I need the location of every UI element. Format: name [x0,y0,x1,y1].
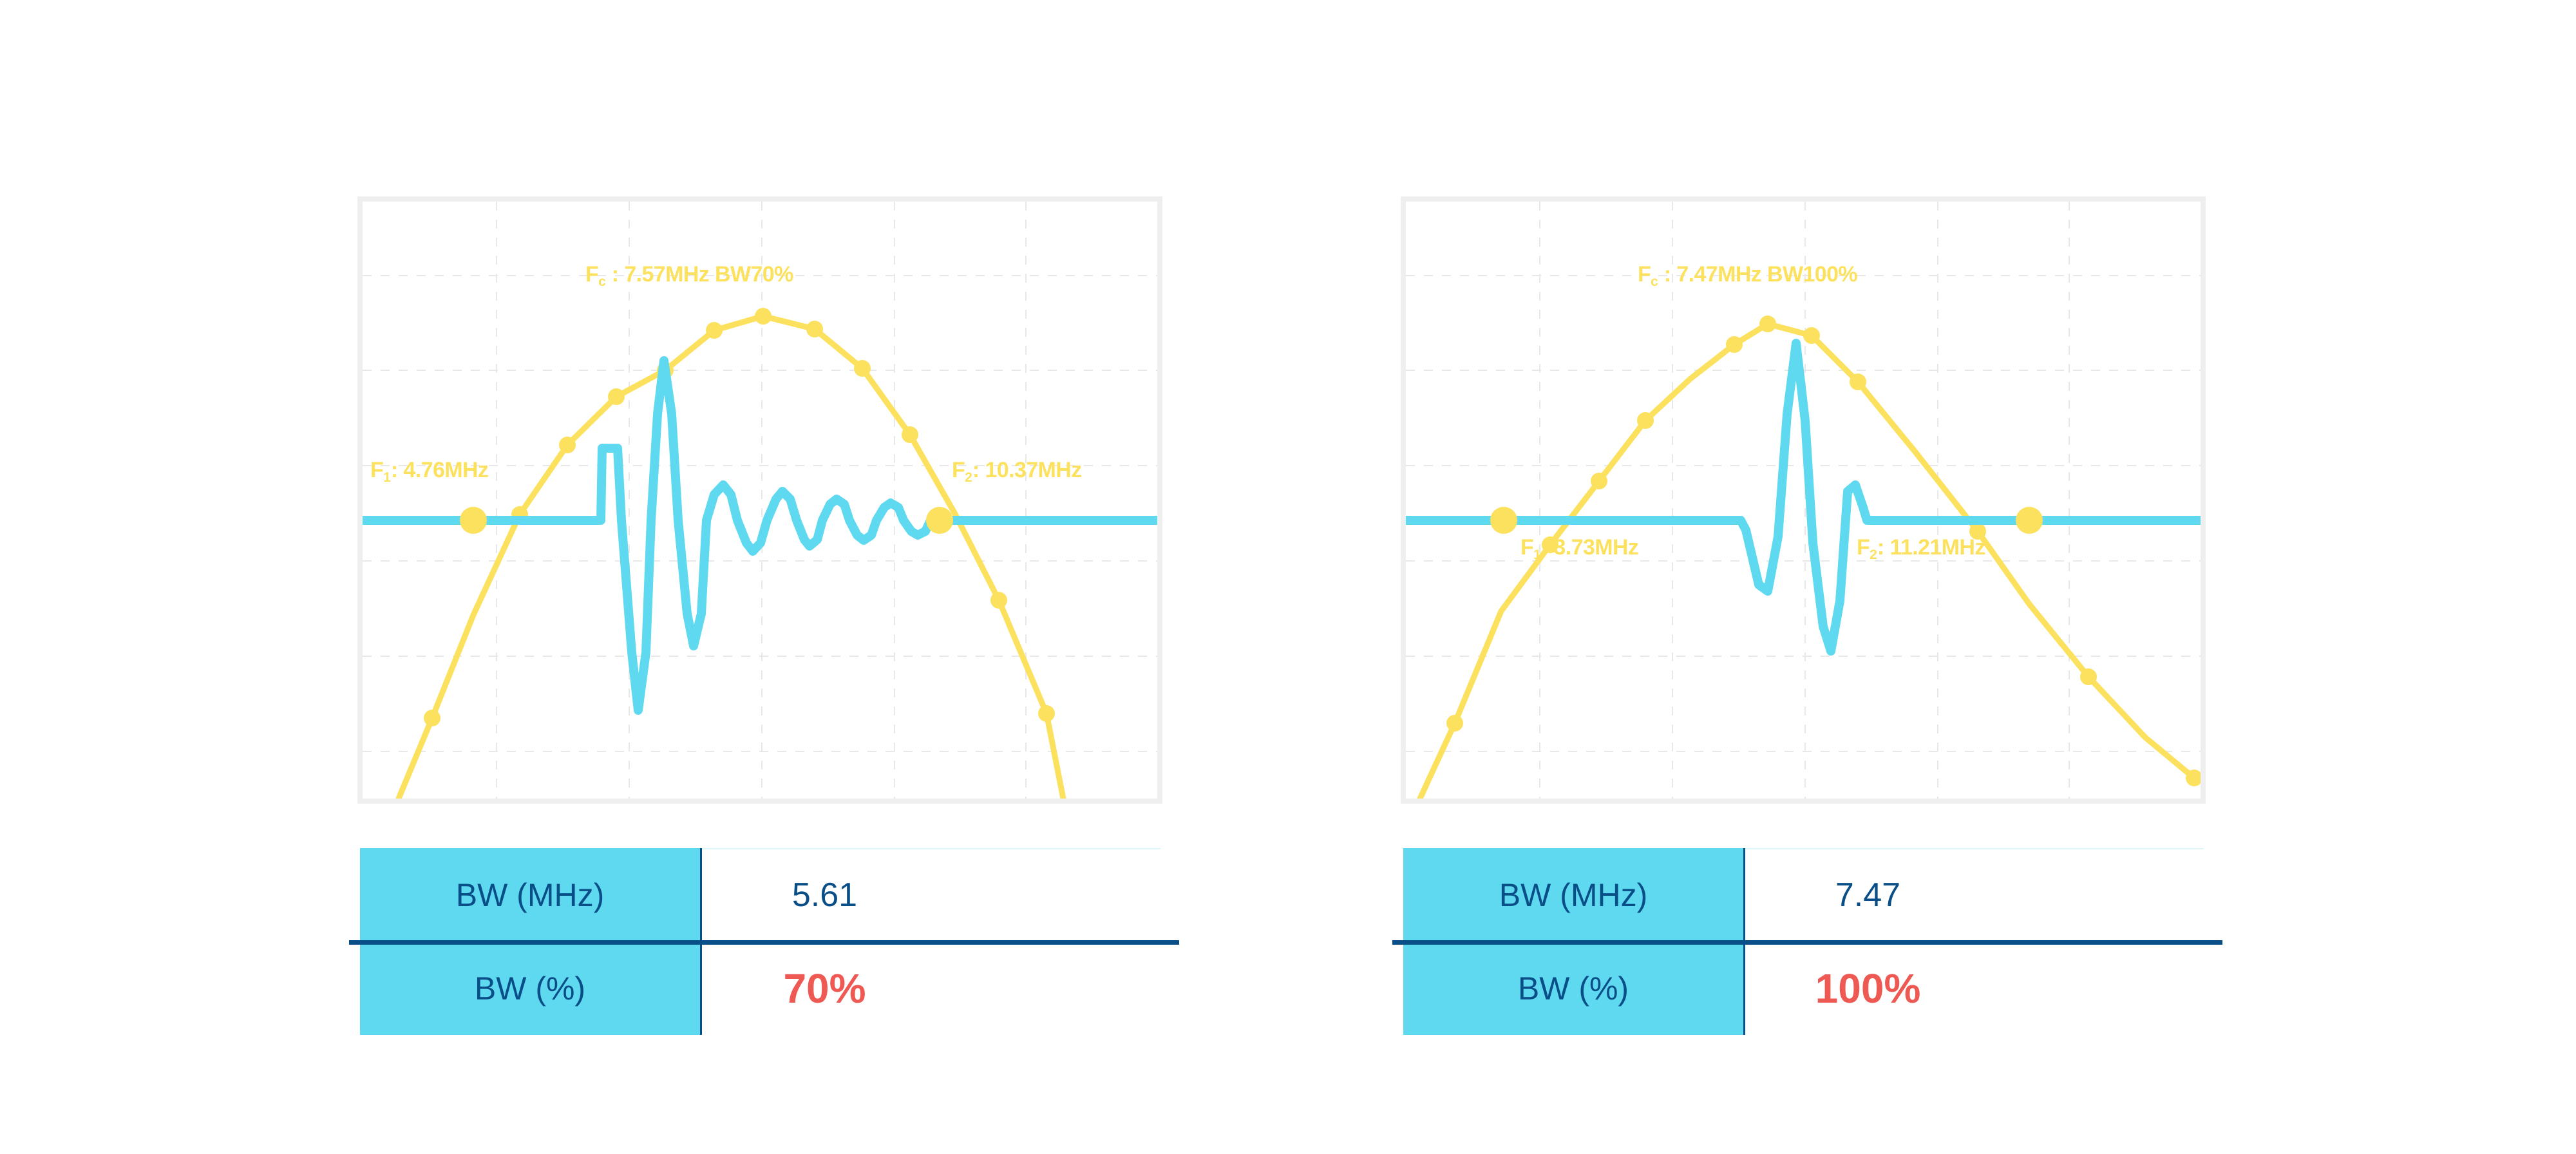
curves-right [1406,202,2201,799]
annotation-f1-text-right: : 3.73MHz [1541,535,1638,560]
bw-pct-label-left: BW (%) [360,941,700,1035]
chart-box-right: Fc : 7.47MHz BW100% F1: 3.73MHz F2: 11.2… [1401,196,2206,804]
plot-area-left: Fc : 7.57MHz BW70% F1: 4.76MHz F2: 10.37… [363,202,1157,799]
curves-left [363,202,1157,799]
annotation-f2-sub-right: 2 [1870,547,1877,562]
annotation-f2-right: F2: 11.21MHz [1857,536,1985,558]
bw-pct-value-right: 100% [1743,941,2224,1035]
annotation-f2-prefix-left: F [952,458,965,482]
bw-mhz-label-right: BW (MHz) [1403,848,1743,941]
table-row: BW (MHz) 5.61 [360,848,1181,941]
annotation-f2-sub-left: 2 [965,470,972,485]
pulse-waveform-right [1406,343,2201,651]
panel-right: Fc : 7.47MHz BW100% F1: 3.73MHz F2: 11.2… [1401,196,2206,804]
annotation-center-text-left: : 7.57MHz BW70% [606,262,793,287]
table-mid-rule-right [1392,940,2222,945]
bw-mhz-value-left: 5.61 [700,848,1181,941]
chart-box-left: Fc : 7.57MHz BW70% F1: 4.76MHz F2: 10.37… [357,196,1162,804]
table-column-divider-right [1743,848,1745,1035]
annotation-f2-text-left: : 10.37MHz [972,458,1082,482]
marker-f1-right [1490,507,1517,534]
marker-f1-left [460,507,487,534]
figure-root: Fc : 7.57MHz BW70% F1: 4.76MHz F2: 10.37… [0,0,2576,1154]
annotation-center-text-right: : 7.47MHz BW100% [1658,262,1857,287]
annotation-f2-text-right: : 11.21MHz [1877,535,1985,560]
annotation-f1-sub-right: 1 [1533,547,1541,562]
annotation-f1-text-left: : 4.76MHz [391,458,488,482]
annotation-center-left: Fc : 7.57MHz BW70% [585,263,793,285]
annotation-center-right: Fc : 7.47MHz BW100% [1638,263,1857,285]
panel-left: Fc : 7.57MHz BW70% F1: 4.76MHz F2: 10.37… [357,196,1162,804]
table-row: BW (%) 100% [1403,941,2224,1035]
bw-pct-label-right: BW (%) [1403,941,1743,1035]
table-mid-rule-left [349,940,1179,945]
annotation-f1-sub-left: 1 [383,470,391,485]
pulse-waveform-left [363,361,1157,710]
marker-f2-right [2016,507,2043,534]
table-row: BW (MHz) 7.47 [1403,848,2224,941]
bw-table-left: BW (MHz) 5.61 BW (%) 70% [360,848,1181,1035]
annotation-center-prefix-left: F [585,262,598,287]
spectrum-curve-left [399,316,1063,799]
annotation-f2-left: F2: 10.37MHz [952,459,1082,481]
annotation-f2-prefix-right: F [1857,535,1870,560]
bw-table-right: BW (MHz) 7.47 BW (%) 100% [1403,848,2224,1035]
annotation-center-prefix-right: F [1638,262,1651,287]
table-column-divider-left [700,848,702,1035]
table-row: BW (%) 70% [360,941,1181,1035]
annotation-f1-left: F1: 4.76MHz [370,459,488,481]
annotation-center-sub-left: c [598,274,606,289]
marker-f2-left [926,507,953,534]
plot-area-right: Fc : 7.47MHz BW100% F1: 3.73MHz F2: 11.2… [1406,202,2201,799]
bw-mhz-value-right: 7.47 [1743,848,2224,941]
annotation-f1-prefix-right: F [1520,535,1533,560]
bw-pct-value-left: 70% [700,941,1181,1035]
bw-mhz-label-left: BW (MHz) [360,848,700,941]
annotation-f1-prefix-left: F [370,458,383,482]
annotation-f1-right: F1: 3.73MHz [1520,536,1638,558]
annotation-center-sub-right: c [1651,274,1658,289]
